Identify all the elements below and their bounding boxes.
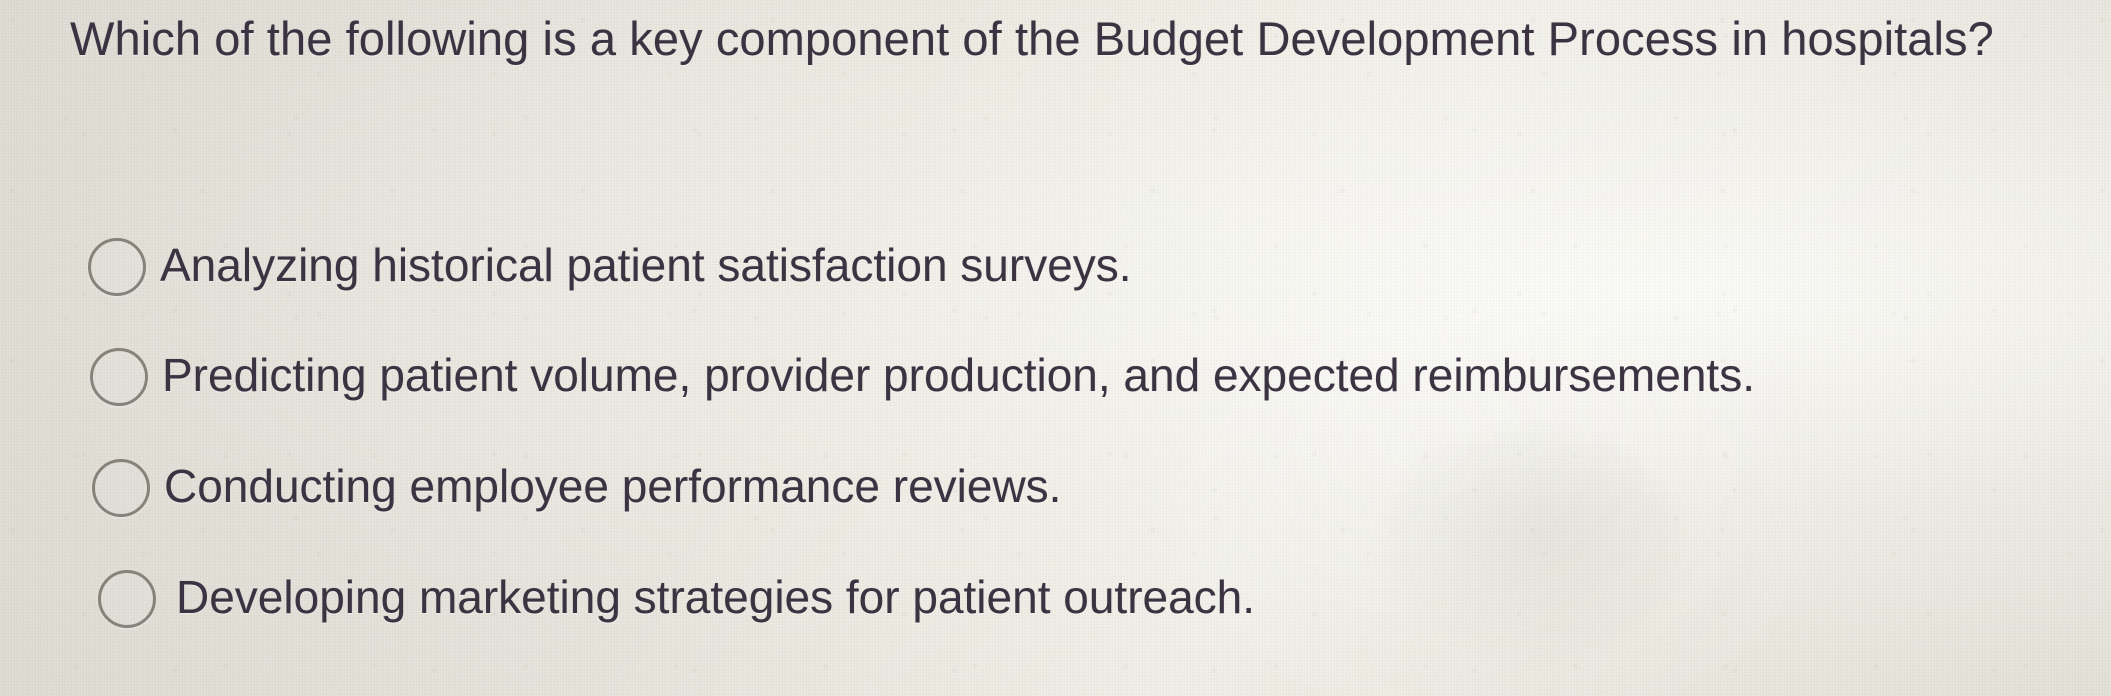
question-prompt: Which of the following is a key componen… bbox=[70, 4, 2060, 73]
radio-button-unchecked-icon[interactable] bbox=[92, 459, 150, 517]
answer-option-2[interactable]: Predicting patient volume, provider prod… bbox=[0, 338, 2111, 448]
answer-options-group: Analyzing historical patient satisfactio… bbox=[0, 228, 2111, 668]
answer-option-3-label: Conducting employee performance reviews. bbox=[164, 457, 1061, 515]
answer-option-1[interactable]: Analyzing historical patient satisfactio… bbox=[0, 228, 2111, 338]
answer-option-1-label: Analyzing historical patient satisfactio… bbox=[160, 236, 1132, 294]
answer-option-3[interactable]: Conducting employee performance reviews. bbox=[0, 448, 2111, 558]
answer-option-4-label: Developing marketing strategies for pati… bbox=[176, 568, 1255, 626]
answer-option-4[interactable]: Developing marketing strategies for pati… bbox=[0, 558, 2111, 668]
radio-button-unchecked-icon[interactable] bbox=[88, 238, 146, 296]
question-screenshot: Which of the following is a key componen… bbox=[0, 0, 2111, 696]
answer-option-2-label: Predicting patient volume, provider prod… bbox=[162, 346, 1755, 404]
radio-button-unchecked-icon[interactable] bbox=[90, 348, 148, 406]
radio-button-unchecked-icon[interactable] bbox=[98, 570, 156, 628]
